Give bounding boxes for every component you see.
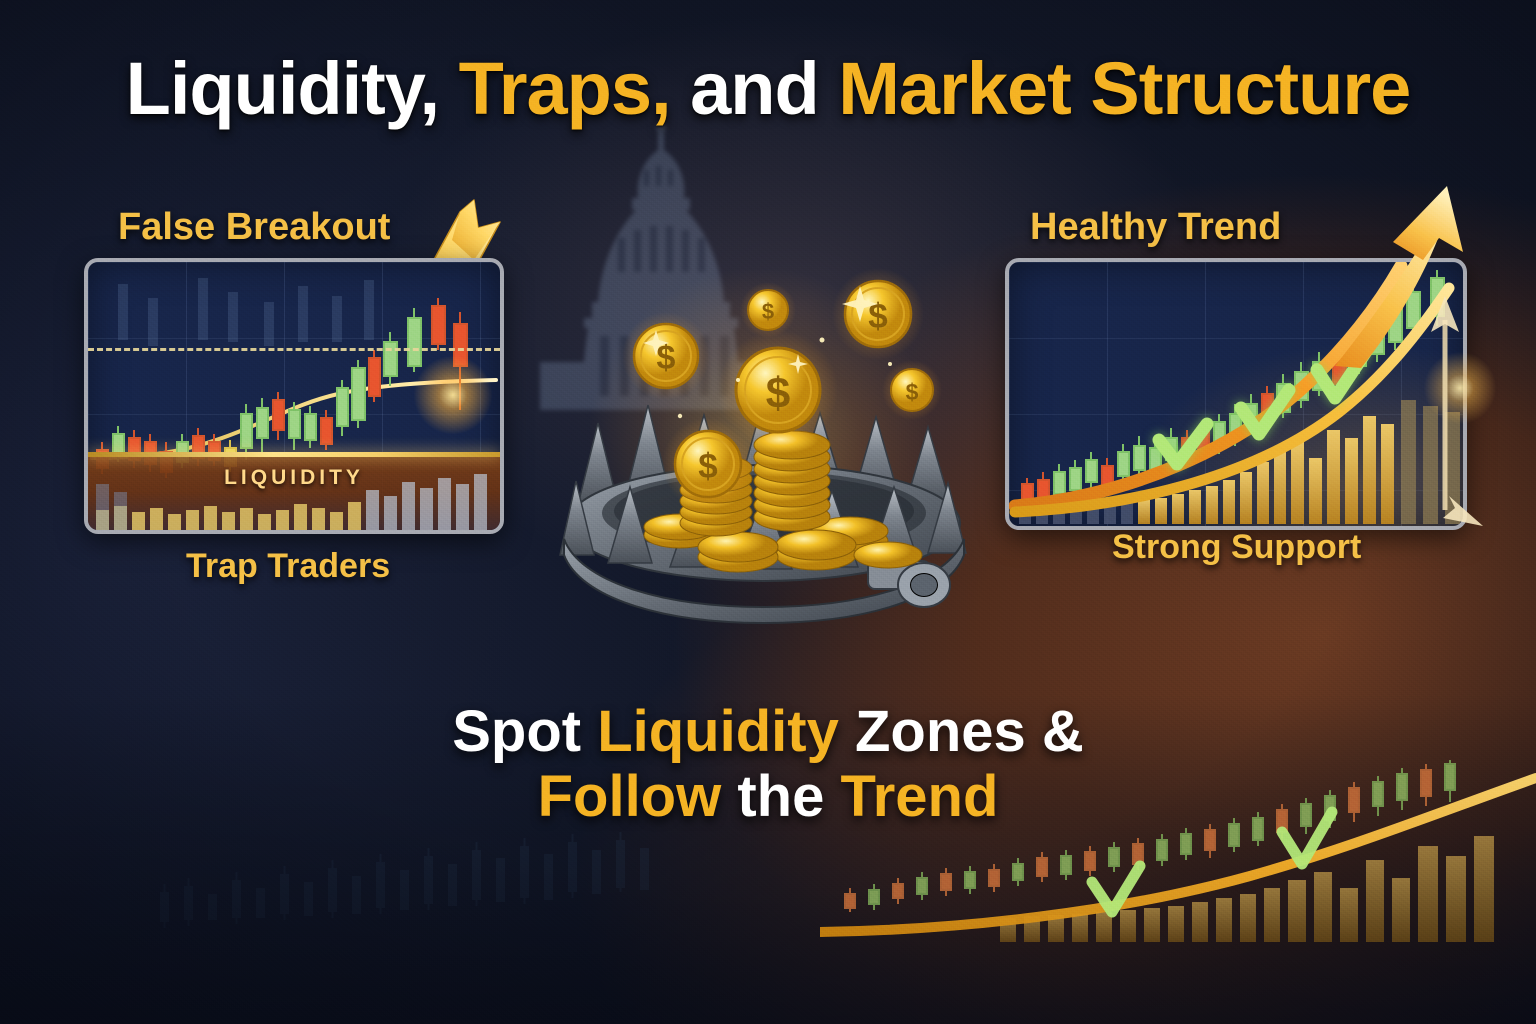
infographic-canvas: Liquidity, Traps, and Market Structure F… <box>0 0 1536 1024</box>
texture-overlay <box>0 0 1536 1024</box>
